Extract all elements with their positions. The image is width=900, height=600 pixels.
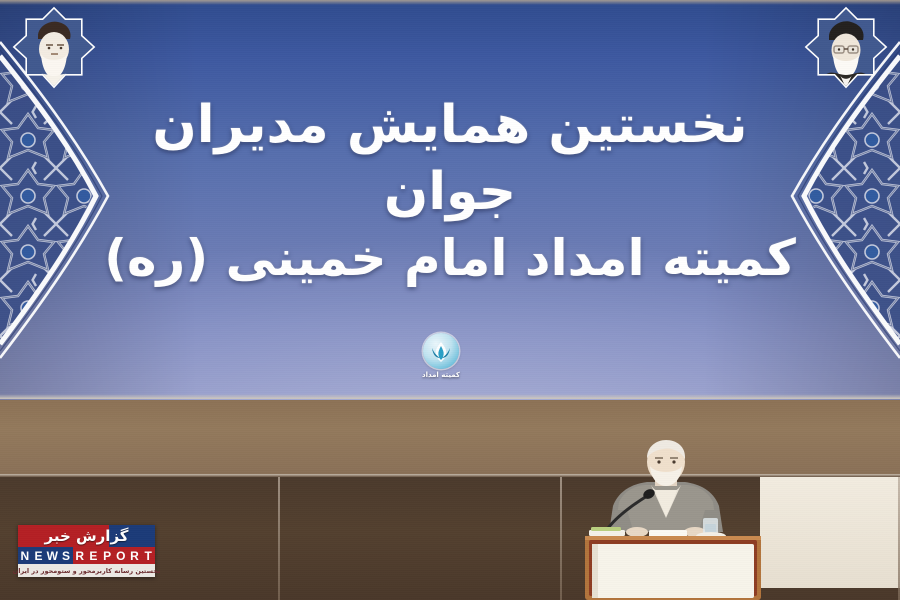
stage-banner: نخستین همایش مدیران جوان کمیته امداد اما… — [0, 0, 900, 400]
banner-headline: نخستین همایش مدیران جوان کمیته امداد اما… — [90, 92, 810, 292]
podium-body — [585, 536, 761, 600]
logo-letter-e: E — [32, 547, 46, 564]
emblem-caption: کمیته امداد — [418, 371, 464, 379]
headline-line-2: کمیته امداد امام خمینی (ره) — [90, 225, 810, 292]
news-agency-watermark: گزارش خبر N E W S R E P O R T نخستین رسا… — [18, 525, 155, 577]
logo-letter-r1: R — [73, 547, 87, 564]
logo-letter-p: P — [100, 547, 114, 564]
banner-top-edge — [0, 0, 900, 5]
logo-letter-s: S — [59, 547, 73, 564]
wall-panel-joint-mid — [560, 477, 562, 600]
wall-light-panel — [760, 477, 900, 588]
wall-panel-joint-left — [278, 477, 280, 600]
emblem-flame-icon — [428, 339, 454, 365]
conference-photo: نخستین همایش مدیران جوان کمیته امداد اما… — [0, 0, 900, 600]
speaker-and-podium — [575, 440, 770, 600]
emblem-disc — [423, 333, 459, 369]
logo-tagline-band: نخستین رسانه کاربرمحور و ستومحور در ایرا… — [18, 564, 155, 577]
papers-on-podium — [589, 527, 625, 536]
logo-letter-o: O — [114, 547, 128, 564]
logo-letter-w: W — [45, 547, 59, 564]
logo-latin-band: N E W S R E P O R T — [18, 547, 155, 564]
logo-letter-e2: E — [87, 547, 101, 564]
logo-persian-band: گزارش خبر — [18, 525, 155, 547]
emdad-committee-emblem: کمیته امداد — [418, 333, 464, 389]
logo-persian-name: گزارش خبر — [18, 525, 155, 547]
banner-bottom-edge — [0, 394, 900, 399]
logo-letter-t: T — [141, 547, 155, 564]
document-sheets — [649, 530, 687, 537]
portrait-khomeini — [8, 6, 100, 102]
logo-letter-n: N — [18, 547, 32, 564]
portrait-khamenei — [800, 6, 892, 102]
headline-line-1: نخستین همایش مدیران جوان — [90, 92, 810, 225]
logo-letter-r2: R — [128, 547, 142, 564]
logo-tagline: نخستین رسانه کاربرمحور و ستومحور در ایرا… — [13, 567, 161, 575]
